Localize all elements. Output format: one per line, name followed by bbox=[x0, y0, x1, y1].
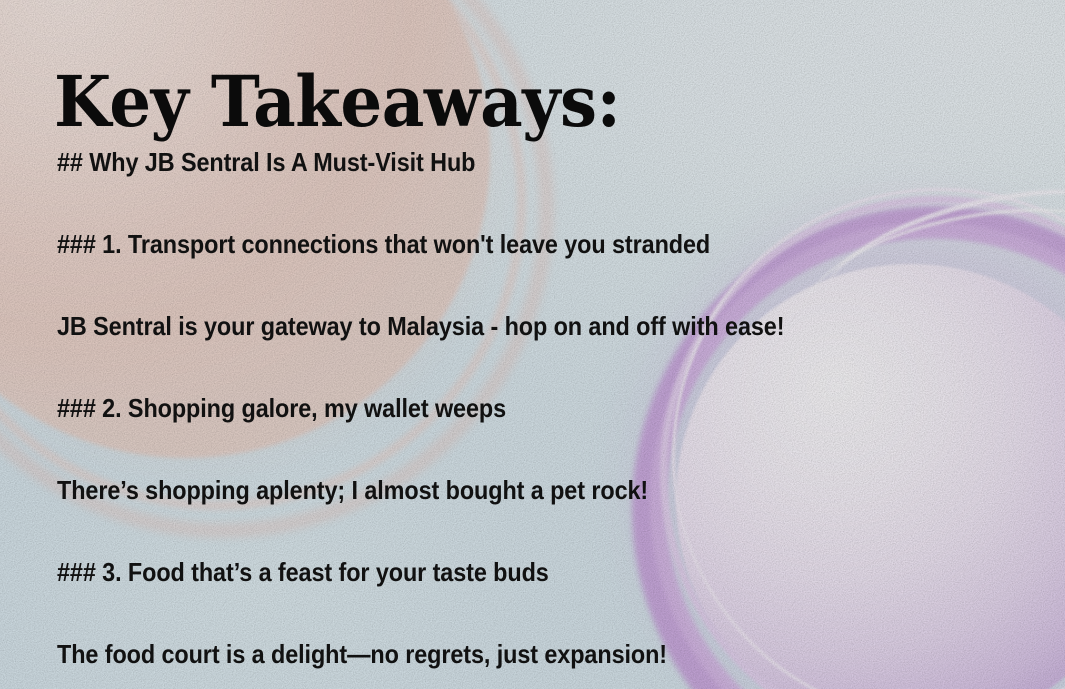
takeaway-line-point-3-body: The food court is a delight—no regrets, … bbox=[57, 640, 921, 668]
takeaway-line-point-1-heading: ### 1. Transport connections that won't … bbox=[57, 230, 921, 258]
takeaway-line-point-2-heading: ### 2. Shopping galore, my wallet weeps bbox=[57, 394, 921, 422]
takeaway-line-point-1-body: JB Sentral is your gateway to Malaysia -… bbox=[57, 312, 921, 340]
takeaway-line-section-heading: ## Why JB Sentral Is A Must-Visit Hub bbox=[57, 148, 921, 176]
slide-content: Key Takeaways: ## Why JB Sentral Is A Mu… bbox=[0, 0, 1065, 689]
takeaways-list: ## Why JB Sentral Is A Must-Visit Hub ##… bbox=[57, 148, 1017, 669]
page-title: Key Takeaways: bbox=[54, 67, 620, 137]
takeaway-line-point-3-heading: ### 3. Food that’s a feast for your tast… bbox=[57, 558, 921, 586]
takeaway-line-point-2-body: There’s shopping aplenty; I almost bough… bbox=[57, 476, 921, 504]
slide-canvas: Key Takeaways: ## Why JB Sentral Is A Mu… bbox=[0, 0, 1065, 689]
